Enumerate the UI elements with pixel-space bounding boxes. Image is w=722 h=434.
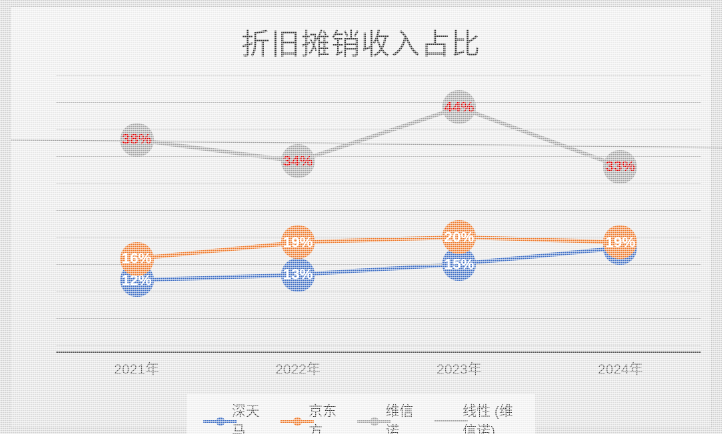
series-line-维信诺: [137, 107, 621, 166]
legend-item-线性 (维信诺)[interactable]: 线性 (维信诺): [434, 401, 519, 434]
x-tick-2023年: 2023年: [437, 359, 482, 379]
gridline: [56, 183, 701, 184]
data-point-维信诺-2022年[interactable]: 34%: [281, 144, 315, 178]
legend-item-维信诺[interactable]: 维信诺: [357, 401, 414, 434]
gridline: [56, 345, 701, 346]
legend-swatch-icon: [280, 415, 303, 427]
data-point-深天马-2022年[interactable]: 13%: [281, 258, 315, 292]
legend-label: 维信诺: [385, 401, 413, 434]
gridline: [56, 291, 701, 292]
gridline: [56, 129, 701, 130]
x-tick-2021年: 2021年: [114, 359, 159, 379]
legend-item-深天马[interactable]: 深天马: [203, 401, 260, 434]
data-point-京东方-2024年[interactable]: 19%: [603, 225, 637, 259]
data-point-维信诺-2024年[interactable]: 33%: [603, 150, 637, 184]
data-point-京东方-2022年[interactable]: 19%: [281, 225, 315, 259]
plot-area: 12%13%15%18%16%19%20%19%38%34%44%33%: [56, 75, 701, 345]
gridline: [56, 264, 701, 265]
legend-swatch-icon: [434, 415, 457, 427]
data-point-维信诺-2021年[interactable]: 38%: [120, 123, 154, 157]
gridline: [56, 102, 701, 103]
chart-container: 折旧摊销收入占比 12%13%15%18%16%19%20%19%38%34%4…: [10, 6, 712, 428]
legend-label: 线性 (维信诺): [463, 401, 519, 434]
x-axis-line: [56, 351, 701, 353]
legend-item-京东方[interactable]: 京东方: [280, 401, 337, 434]
chart-title: 折旧摊销收入占比: [11, 21, 711, 63]
legend-label: 深天马: [232, 401, 260, 434]
gridline: [56, 156, 701, 157]
legend-swatch-icon: [357, 415, 380, 427]
gridline: [56, 210, 701, 211]
data-point-京东方-2023年[interactable]: 20%: [442, 220, 476, 254]
x-tick-2022年: 2022年: [275, 359, 320, 379]
legend-swatch-icon: [203, 415, 226, 427]
x-axis-tick-labels: 2021年2022年2023年2024年: [56, 359, 701, 385]
gridline: [56, 75, 701, 76]
legend-label: 京东方: [309, 401, 337, 434]
x-tick-2024年: 2024年: [598, 359, 643, 379]
trendline-维信诺: [11, 140, 722, 148]
data-point-京东方-2021年[interactable]: 16%: [120, 242, 154, 276]
gridline: [56, 318, 701, 319]
data-point-维信诺-2023年[interactable]: 44%: [442, 90, 476, 124]
chart-legend: 深天马京东方维信诺线性 (维信诺): [186, 393, 536, 434]
